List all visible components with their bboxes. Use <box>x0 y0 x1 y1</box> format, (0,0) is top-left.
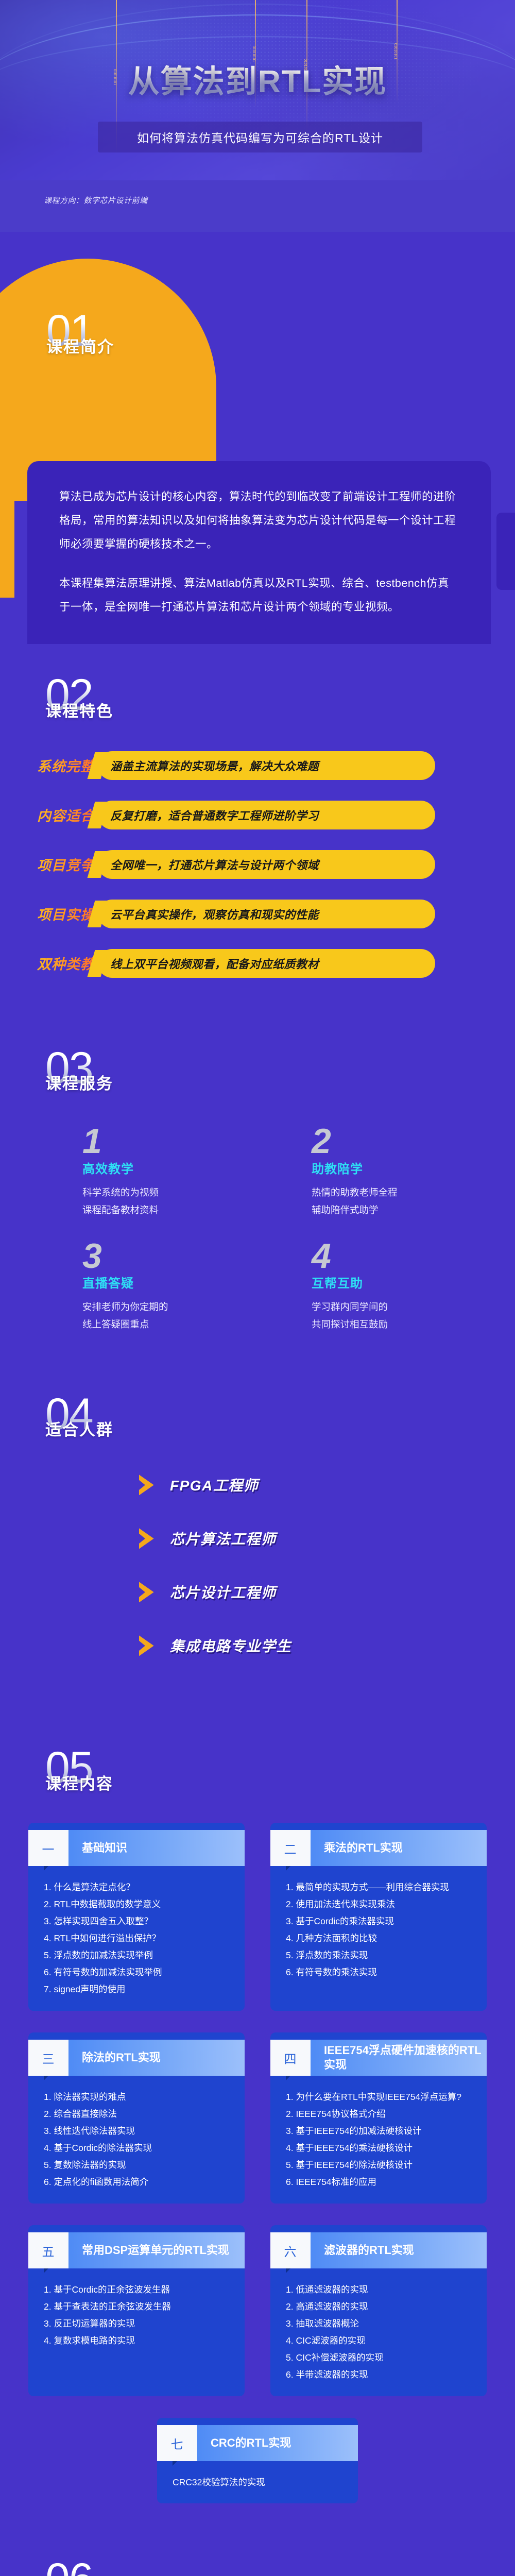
service-desc: 热情的助教老师全程辅助陪伴式助学 <box>312 1184 515 1219</box>
course-card-item: 2. IEEE754协议格式介绍 <box>286 2106 475 2122</box>
intro-paragraph-1: 算法已成为芯片设计的核心内容，算法时代的到临改变了前端设计工程师的进阶格局，常用… <box>59 485 459 556</box>
service-item: 3直播答疑安排老师为你定期的线上答疑圈重点 <box>82 1241 312 1333</box>
course-card-item: 3. 反正切运算器的实现 <box>44 2316 233 2332</box>
course-card-index: 七 <box>157 2425 197 2461</box>
course-card-item: 2. 综合器直接除法 <box>44 2106 233 2122</box>
course-card[interactable]: 一基础知识1. 什么是算法定点化？2. RTL中数据截取的数学意义3. 怎样实现… <box>28 1823 245 2011</box>
course-card-item: 1. 低通滤波器的实现 <box>286 2282 475 2298</box>
hero-title: 从算法到RTL实现 <box>0 56 515 101</box>
course-card[interactable]: 三除法的RTL实现1. 除法器实现的难点2. 综合器直接除法3. 线性迭代除法器… <box>28 2032 245 2204</box>
course-card-index: 四 <box>270 2040 311 2076</box>
course-card-item: 7. signed声明的使用 <box>44 1981 233 1997</box>
intro-section-label: 课程简介 <box>46 334 114 357</box>
feature-row: 项目竞争力全网唯一，打通芯片算法与设计两个领域 <box>0 850 515 879</box>
feature-tag: 项目竞争力 <box>0 854 98 874</box>
intro-text-card: 算法已成为芯片设计的核心内容，算法时代的到临改变了前端设计工程师的进阶格局，常用… <box>27 461 491 644</box>
feature-text: 全网唯一，打通芯片算法与设计两个领域 <box>98 850 435 879</box>
service-section-label: 课程服务 <box>45 1071 515 1094</box>
feature-text: 线上双平台视频观看，配备对应纸质教材 <box>98 949 435 978</box>
service-number: 4 <box>312 1241 515 1272</box>
course-card-item: 5. 浮点数的加减法实现举例 <box>44 1947 233 1963</box>
service-desc-line: 安排老师为你定期的 <box>82 1298 312 1316</box>
audience-label: 芯片设计工程师 <box>170 1582 277 1602</box>
service-heading: 03 课程服务 <box>45 1049 515 1094</box>
audience-item: 集成电路专业学生 <box>139 1631 515 1660</box>
course-card-index: 六 <box>270 2232 311 2268</box>
course-card-item: 1. 为什么要在RTL中实现IEEE754浮点运算? <box>286 2089 475 2105</box>
feature-row: 系统完整性涵盖主流算法的实现场景，解决大众难题 <box>0 751 515 780</box>
hero-footer-band: 课程方向：数字芯片设计前端 <box>0 180 515 232</box>
course-card-title: 除法的RTL实现 <box>68 2040 245 2076</box>
chevron-right-icon <box>139 1635 164 1656</box>
course-card-head: 二乘法的RTL实现 <box>270 1830 487 1866</box>
course-card-item: 5. CIC补偿滤波器的实现 <box>286 2350 475 2366</box>
service-item: 4互帮互助学习群内同学间的共同探讨相互鼓励 <box>312 1241 515 1333</box>
course-card-item: 5. 浮点数的乘法实现 <box>286 1947 475 1963</box>
course-card-title: 滤波器的RTL实现 <box>311 2232 487 2268</box>
course-card-index: 一 <box>28 1830 68 1866</box>
course-card-item: 6. 定点化的fi函数用法简介 <box>44 2174 233 2190</box>
course-card-index: 五 <box>28 2232 68 2268</box>
course-card-head: 三除法的RTL实现 <box>28 2040 245 2076</box>
course-card-item: 6. 有符号数的加减法实现举例 <box>44 1964 233 1980</box>
service-desc-line: 辅助陪伴式助学 <box>312 1201 515 1219</box>
service-desc-line: 共同探讨相互鼓励 <box>312 1316 515 1333</box>
course-card-item: 2. 高通滤波器的实现 <box>286 2299 475 2315</box>
feature-text: 涵盖主流算法的实现场景，解决大众难题 <box>98 751 435 780</box>
chevron-right-icon <box>139 1582 164 1602</box>
course-card-item: 4. 复数求模电路的实现 <box>44 2333 233 2349</box>
projects-section-number: 06 <box>45 2560 515 2576</box>
course-card-items: 1. 什么是算法定点化？2. RTL中数据截取的数学意义3. 怎样实现四舍五入取… <box>28 1866 245 2011</box>
service-desc-line: 学习群内同学间的 <box>312 1298 515 1316</box>
course-card-item: 4. 基于IEEE754的乘法硬核设计 <box>286 2140 475 2156</box>
projects-heading: 06 实战项目 <box>45 2560 515 2576</box>
course-card[interactable]: 七CRC的RTL实现CRC32校验算法的实现 <box>157 2418 358 2503</box>
course-card-item: 4. CIC滤波器的实现 <box>286 2333 475 2349</box>
section-intro: 01 课程简介 算法已成为芯片设计的核心内容，算法时代的到临改变了前端设计工程师… <box>0 232 515 644</box>
feature-tag: 系统完整性 <box>0 755 98 775</box>
course-direction: 课程方向：数字芯片设计前端 <box>44 195 148 206</box>
course-card[interactable]: 五常用DSP运算单元的RTL实现1. 基于Cordic的正余弦波发生器2. 基于… <box>28 2225 245 2396</box>
audience-label: FPGA工程师 <box>170 1475 259 1495</box>
audience-list: FPGA工程师芯片算法工程师芯片设计工程师集成电路专业学生 <box>139 1470 515 1660</box>
section-projects: 06 实战项目 1、滤波器设计实战2、锁相器3、IEEE754实现4、常用DSP… <box>0 2524 515 2576</box>
course-card-grid: 一基础知识1. 什么是算法定点化？2. RTL中数据截取的数学意义3. 怎样实现… <box>28 1823 487 2396</box>
course-card-item: 4. RTL中如何进行溢出保护？ <box>44 1930 233 1946</box>
course-card-head: 五常用DSP运算单元的RTL实现 <box>28 2232 245 2268</box>
course-card-item: 6. 有符号数的乘法实现 <box>286 1964 475 1980</box>
course-card-title: 常用DSP运算单元的RTL实现 <box>68 2232 245 2268</box>
course-card-head: 七CRC的RTL实现 <box>157 2425 358 2461</box>
service-number: 2 <box>312 1126 515 1157</box>
course-card[interactable]: 四IEEE754浮点硬件加速核的RTL实现1. 为什么要在RTL中实现IEEE7… <box>270 2032 487 2204</box>
course-card-index: 三 <box>28 2040 68 2076</box>
course-card-item: 3. 线性迭代除法器实现 <box>44 2123 233 2139</box>
service-desc: 科学系统的为视频课程配备教材资料 <box>82 1184 312 1219</box>
service-number: 3 <box>82 1241 312 1272</box>
feature-text: 反复打磨，适合普通数字工程师进阶学习 <box>98 801 435 829</box>
section-content: 05 课程内容 一基础知识1. 什么是算法定点化？2. RTL中数据截取的数学意… <box>0 1720 515 2524</box>
intro-right-tab <box>496 513 515 590</box>
course-card-index: 二 <box>270 1830 311 1866</box>
features-heading: 02 课程特色 <box>45 676 515 721</box>
course-card-last-wrap: 七CRC的RTL实现CRC32校验算法的实现 <box>0 2418 515 2503</box>
feature-tag: 双种类教学 <box>0 953 98 973</box>
service-desc-line: 科学系统的为视频 <box>82 1184 312 1201</box>
chevron-right-icon <box>139 1528 164 1549</box>
intro-paragraph-2: 本课程集算法原理讲授、算法Matlab仿真以及RTL实现、综合、testbenc… <box>59 571 459 619</box>
course-card-item: 5. 复数除法器的实现 <box>44 2157 233 2173</box>
course-card-title: IEEE754浮点硬件加速核的RTL实现 <box>311 2040 487 2076</box>
course-card-item: 4. 几种方法面积的比较 <box>286 1930 475 1946</box>
course-card-items: 1. 除法器实现的难点2. 综合器直接除法3. 线性迭代除法器实现4. 基于Co… <box>28 2076 245 2204</box>
service-item: 2助教陪学热情的助教老师全程辅助陪伴式助学 <box>312 1126 515 1218</box>
course-card-head: 六滤波器的RTL实现 <box>270 2232 487 2268</box>
course-card-item: 2. RTL中数据截取的数学意义 <box>44 1896 233 1912</box>
course-card-title: 基础知识 <box>68 1830 245 1866</box>
hero-subtitle: 如何将算法仿真代码编写为可综合的RTL设计 <box>98 122 422 152</box>
course-card-items: 1. 基于Cordic的正余弦波发生器2. 基于查表法的正余弦波发生器3. 反正… <box>28 2268 245 2362</box>
audience-heading: 04 适合人群 <box>45 1395 515 1440</box>
course-card-items: 1. 为什么要在RTL中实现IEEE754浮点运算?2. IEEE754协议格式… <box>270 2076 487 2204</box>
course-card-item: 4. 基于Cordic的除法器实现 <box>44 2140 233 2156</box>
feature-tag: 项目实操性 <box>0 904 98 924</box>
chevron-right-icon <box>139 1475 164 1495</box>
course-card-item: 1. 除法器实现的难点 <box>44 2089 233 2105</box>
course-card-item: 5. 基于IEEE754的除法硬核设计 <box>286 2157 475 2173</box>
course-card-item: 2. 基于查表法的正余弦波发生器 <box>44 2299 233 2315</box>
course-card-item: 1. 什么是算法定点化？ <box>44 1879 233 1895</box>
course-card-items: 1. 最简单的实现方式——利用综合器实现2. 使用加法迭代来实现乘法3. 基于C… <box>270 1866 487 1994</box>
service-title: 直播答疑 <box>82 1273 312 1291</box>
course-card-item: 3. 怎样实现四舍五入取整？ <box>44 1913 233 1929</box>
audience-label: 芯片算法工程师 <box>170 1528 277 1549</box>
landing-page: 01010101 01010101 01010101 01010101 从算法到… <box>0 0 515 2576</box>
course-card-item: 6. IEEE754标准的应用 <box>286 2174 475 2190</box>
feature-text: 云平台真实操作，观察仿真和现实的性能 <box>98 900 435 928</box>
feature-row: 项目实操性云平台真实操作，观察仿真和现实的性能 <box>0 900 515 928</box>
audience-section-label: 适合人群 <box>45 1417 515 1440</box>
course-card-item: 1. 最简单的实现方式——利用综合器实现 <box>286 1879 475 1895</box>
audience-item: 芯片设计工程师 <box>139 1577 515 1607</box>
intro-heading: 01 课程简介 <box>46 312 114 357</box>
service-number: 1 <box>82 1126 312 1157</box>
course-card-title: CRC的RTL实现 <box>197 2425 358 2461</box>
service-desc: 安排老师为你定期的线上答疑圈重点 <box>82 1298 312 1333</box>
service-title: 互帮互助 <box>312 1273 515 1291</box>
course-card-item: 3. 基于Cordic的乘法器实现 <box>286 1913 475 1929</box>
course-card[interactable]: 六滤波器的RTL实现1. 低通滤波器的实现2. 高通滤波器的实现3. 抽取滤波器… <box>270 2225 487 2396</box>
hero-banner: 01010101 01010101 01010101 01010101 从算法到… <box>0 0 515 180</box>
course-card-item: 3. 抽取滤波器概论 <box>286 2316 475 2332</box>
course-card-items: 1. 低通滤波器的实现2. 高通滤波器的实现3. 抽取滤波器概论4. CIC滤波… <box>270 2268 487 2396</box>
content-heading: 05 课程内容 <box>45 1749 515 1794</box>
course-card-item: 2. 使用加法迭代来实现乘法 <box>286 1896 475 1912</box>
audience-item: FPGA工程师 <box>139 1470 515 1500</box>
course-card-item: CRC32校验算法的实现 <box>173 2475 347 2490</box>
audience-label: 集成电路专业学生 <box>170 1635 291 1656</box>
feature-row: 内容适合性反复打磨，适合普通数字工程师进阶学习 <box>0 801 515 829</box>
service-desc-line: 线上答疑圈重点 <box>82 1316 312 1333</box>
feature-row: 双种类教学线上双平台视频观看，配备对应纸质教材 <box>0 949 515 978</box>
course-card-title: 乘法的RTL实现 <box>311 1830 487 1866</box>
section-service: 03 课程服务 1高效教学科学系统的为视频课程配备教材资料2助教陪学热情的助教老… <box>0 1019 515 1364</box>
course-card-items: CRC32校验算法的实现 <box>157 2461 358 2503</box>
service-item: 1高效教学科学系统的为视频课程配备教材资料 <box>82 1126 312 1218</box>
service-desc-line: 课程配备教材资料 <box>82 1201 312 1219</box>
features-list: 系统完整性涵盖主流算法的实现场景，解决大众难题内容适合性反复打磨，适合普通数字工… <box>0 751 515 978</box>
content-section-label: 课程内容 <box>45 1771 515 1794</box>
section-features: 02 课程特色 系统完整性涵盖主流算法的实现场景，解决大众难题内容适合性反复打磨… <box>0 644 515 1019</box>
intro-left-tab <box>0 479 14 598</box>
audience-item: 芯片算法工程师 <box>139 1523 515 1553</box>
service-title: 高效教学 <box>82 1159 312 1177</box>
course-card-item: 1. 基于Cordic的正余弦波发生器 <box>44 2282 233 2298</box>
service-desc-line: 热情的助教老师全程 <box>312 1184 515 1201</box>
course-card-head: 四IEEE754浮点硬件加速核的RTL实现 <box>270 2040 487 2076</box>
service-desc: 学习群内同学间的共同探讨相互鼓励 <box>312 1298 515 1333</box>
course-card-item: 3. 基于IEEE754的加减法硬核设计 <box>286 2123 475 2139</box>
course-card-item: 6. 半带滤波器的实现 <box>286 2367 475 2383</box>
feature-tag: 内容适合性 <box>0 805 98 825</box>
service-title: 助教陪学 <box>312 1159 515 1177</box>
service-grid: 1高效教学科学系统的为视频课程配备教材资料2助教陪学热情的助教老师全程辅助陪伴式… <box>82 1126 515 1333</box>
features-section-label: 课程特色 <box>45 698 515 721</box>
section-audience: 04 适合人群 FPGA工程师芯片算法工程师芯片设计工程师集成电路专业学生 <box>0 1364 515 1721</box>
course-card[interactable]: 二乘法的RTL实现1. 最简单的实现方式——利用综合器实现2. 使用加法迭代来实… <box>270 1823 487 2011</box>
course-card-head: 一基础知识 <box>28 1830 245 1866</box>
